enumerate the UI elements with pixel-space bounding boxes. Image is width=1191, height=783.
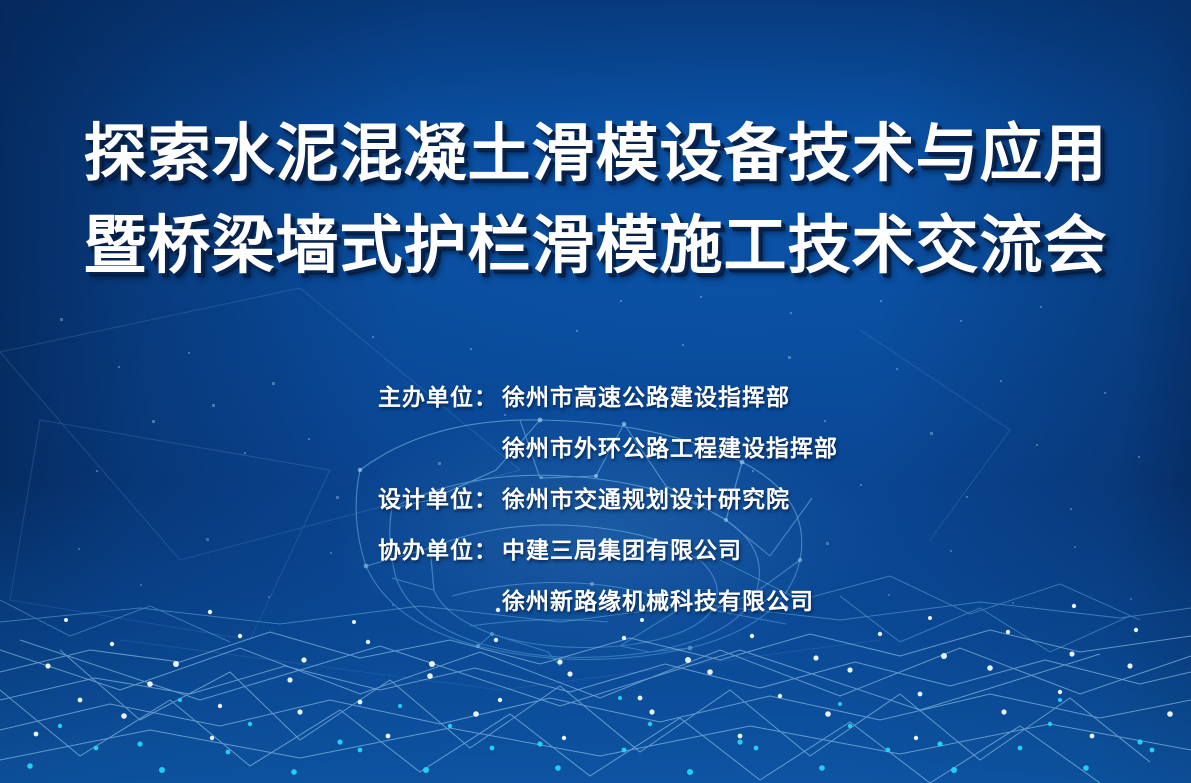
info-value-coorganizer-1: 中建三局集团有限公司	[502, 531, 742, 565]
info-label-designer: 设计单位：	[378, 480, 502, 514]
info-label-coorganizer: 协办单位：	[378, 531, 502, 565]
banner-content: 探索水泥混凝土滑模设备技术与应用 暨桥梁墙式护栏滑模施工技术交流会 主办单位： …	[0, 0, 1191, 783]
info-value-host-1: 徐州市高速公路建设指挥部	[502, 378, 790, 412]
organizer-info-block: 主办单位： 徐州市高速公路建设指挥部 主办单位： 徐州市外环公路工程建设指挥部 …	[378, 378, 998, 633]
info-label-host: 主办单位：	[378, 378, 502, 412]
info-row-coorganizer-secondary: 协办单位： 徐州新路缘机械科技有限公司	[378, 582, 998, 633]
info-row-host: 主办单位： 徐州市高速公路建设指挥部	[378, 378, 998, 429]
info-value-coorganizer-2: 徐州新路缘机械科技有限公司	[502, 582, 814, 616]
info-row-host-secondary: 主办单位： 徐州市外环公路工程建设指挥部	[378, 429, 998, 480]
banner-title: 探索水泥混凝土滑模设备技术与应用 暨桥梁墙式护栏滑模施工技术交流会	[0, 108, 1191, 292]
conference-banner: 探索水泥混凝土滑模设备技术与应用 暨桥梁墙式护栏滑模施工技术交流会 主办单位： …	[0, 0, 1191, 783]
info-row-designer: 设计单位： 徐州市交通规划设计研究院	[378, 480, 998, 531]
info-row-coorganizer: 协办单位： 中建三局集团有限公司	[378, 531, 998, 582]
title-line-2: 暨桥梁墙式护栏滑模施工技术交流会	[0, 200, 1191, 292]
title-line-1: 探索水泥混凝土滑模设备技术与应用	[0, 108, 1191, 200]
info-value-host-2: 徐州市外环公路工程建设指挥部	[502, 429, 838, 463]
info-value-designer: 徐州市交通规划设计研究院	[502, 480, 790, 514]
